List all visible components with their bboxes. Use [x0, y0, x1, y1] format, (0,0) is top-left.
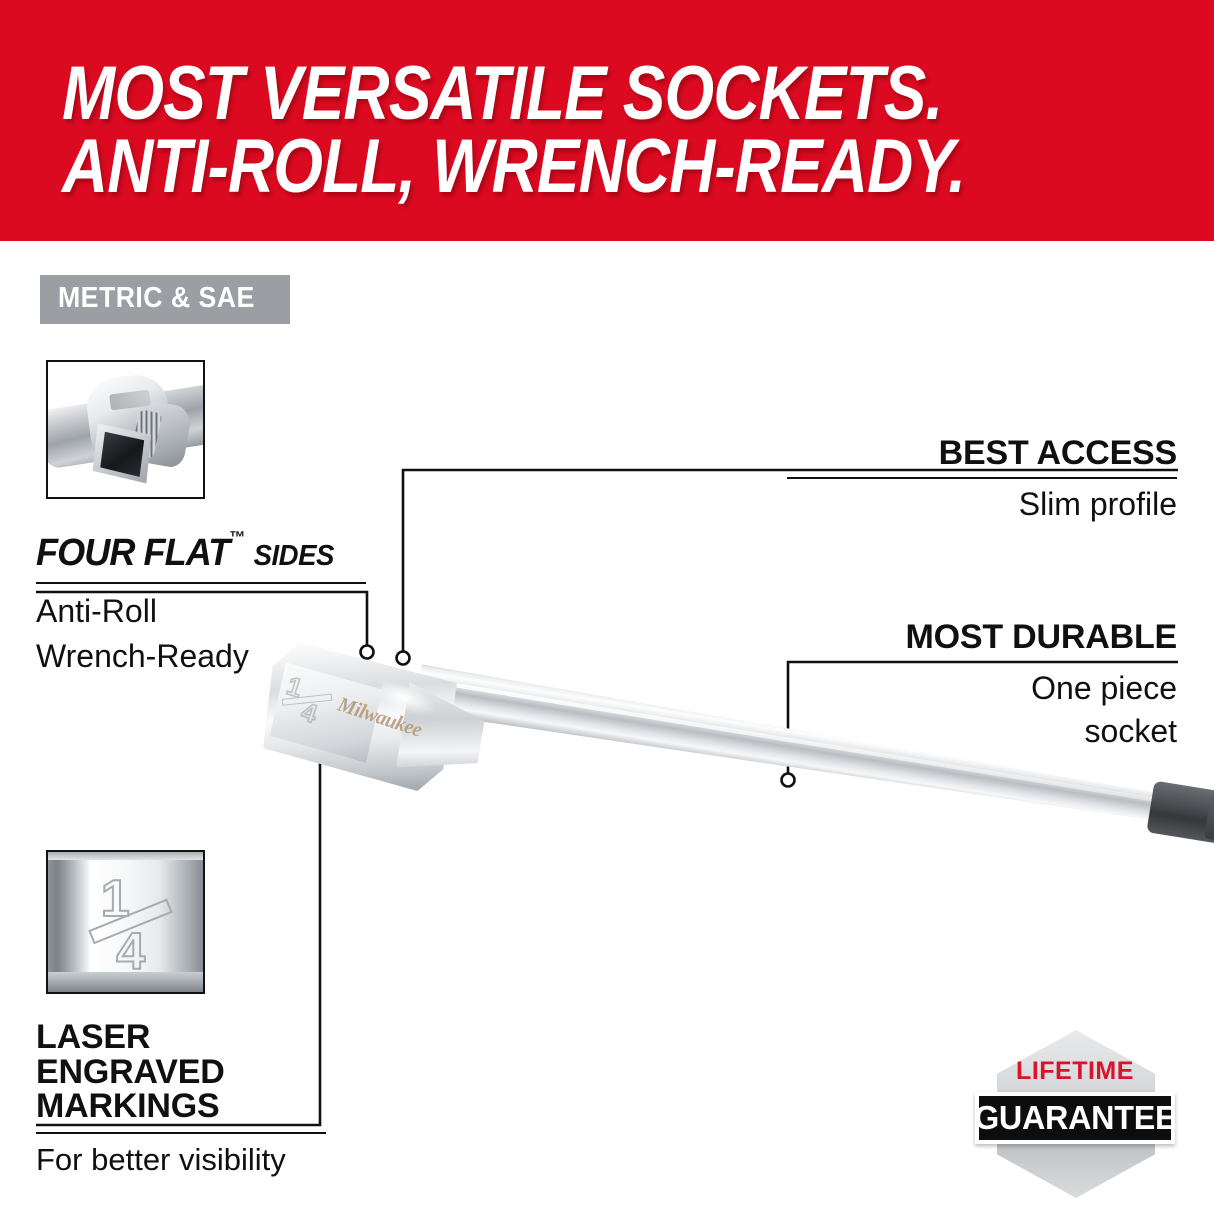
laser-sub: For better visibility: [36, 1142, 326, 1177]
laser-title-line-1: LASER: [36, 1020, 326, 1055]
wrench-thumbnail-image: [46, 360, 205, 499]
lifetime-guarantee-badge: LIFETIME GUARANTEE: [975, 1030, 1175, 1198]
trademark-icon: ™: [229, 528, 244, 547]
best-access-sub: Slim profile: [787, 486, 1177, 522]
banner-headline-line-2: ANTI-ROLL, WRENCH-READY.: [62, 123, 965, 210]
laser-title-line-3: MARKINGS: [36, 1089, 326, 1124]
header-banner: MOST VERSATILE SOCKETS. ANTI-ROLL, WRENC…: [0, 0, 1214, 241]
guarantee-main-label: GUARANTEE: [974, 1099, 1176, 1137]
metric-sae-label: METRIC & SAE: [58, 282, 255, 315]
best-access-title: BEST ACCESS: [787, 436, 1177, 471]
metric-sae-badge: METRIC & SAE: [40, 275, 290, 324]
callout-best-access: BEST ACCESS Slim profile: [787, 436, 1177, 522]
infographic-root: MOST VERSATILE SOCKETS. ANTI-ROLL, WRENC…: [0, 0, 1214, 1214]
laser-title-line-2: ENGRAVED: [36, 1055, 326, 1090]
four-flat-divider: [36, 582, 366, 584]
most-durable-sub-line-1: One piece: [787, 670, 1177, 706]
most-durable-title: MOST DURABLE: [787, 620, 1177, 655]
four-flat-sub-line-2: Wrench-Ready: [36, 638, 366, 674]
engraving-socket-top-edge: [48, 852, 203, 860]
guarantee-black-bar: GUARANTEE: [975, 1092, 1175, 1144]
four-flat-sub-line-1: Anti-Roll: [36, 593, 366, 629]
callout-most-durable: MOST DURABLE One piece socket: [787, 620, 1177, 749]
four-flat-title: FOUR FLAT™ SIDES: [36, 528, 350, 575]
most-durable-divider: [787, 661, 1177, 663]
engraved-denominator: 4: [116, 922, 145, 982]
callout-four-flat-sides: FOUR FLAT™ SIDES Anti-Roll Wrench-Ready: [36, 528, 366, 674]
callout-laser-engraved-markings: LASER ENGRAVED MARKINGS For better visib…: [36, 1020, 326, 1177]
engraving-thumbnail-image: 1 4: [46, 850, 205, 994]
four-flat-title-main: FOUR FLAT: [36, 532, 229, 574]
laser-divider: [36, 1132, 326, 1134]
best-access-divider: [787, 477, 1177, 479]
most-durable-sub-line-2: socket: [787, 713, 1177, 749]
four-flat-title-suffix: SIDES: [254, 540, 334, 572]
guarantee-lifetime-label: LIFETIME: [975, 1057, 1175, 1086]
